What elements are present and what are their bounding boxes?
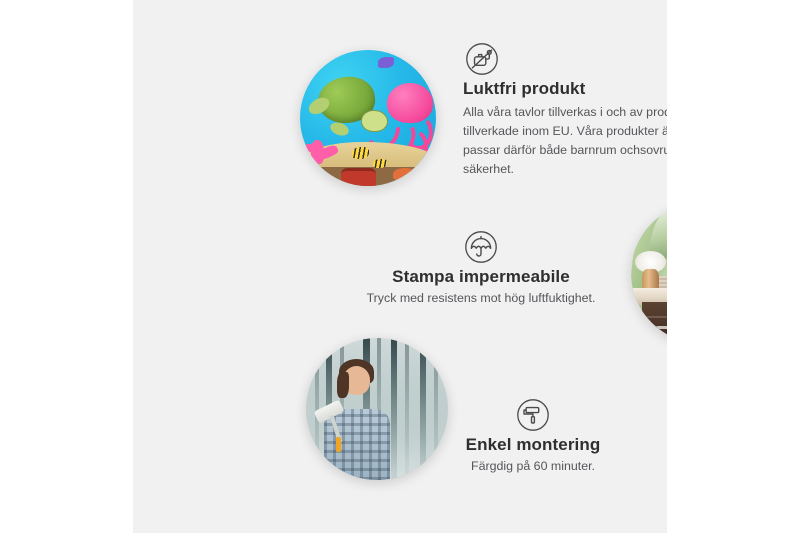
no-fragrance-icon [463, 40, 667, 78]
umbrella-icon [462, 228, 500, 266]
feature-easy-mounting: Enkel montering Färgdig på 60 minuter. [413, 396, 653, 476]
bathroom-botanical-wallpaper-photo [631, 203, 667, 343]
feature-body: Tryck med resistens mot hög luftfuktighe… [336, 290, 626, 307]
feature-title: Luktfri produkt [463, 78, 667, 99]
feature-body: Alla våra tavlor tillverkas i och av pro… [463, 103, 667, 178]
content-panel: Luktfri produkt Alla våra tavlor tillver… [133, 0, 667, 533]
feature-title: Enkel montering [413, 434, 653, 455]
feature-body: Färgdig på 60 minuter. [413, 458, 653, 475]
feature-waterproof-print: Stampa impermeabile Tryck med resistens … [336, 228, 626, 308]
underwater-kids-mural-photo [300, 50, 436, 186]
feature-odour-free: Luktfri produkt Alla våra tavlor tillver… [463, 40, 667, 179]
feature-title: Stampa impermeabile [336, 266, 626, 287]
infographic-banner: Luktfri produkt Alla våra tavlor tillver… [0, 0, 800, 533]
paint-roller-icon [514, 396, 552, 434]
